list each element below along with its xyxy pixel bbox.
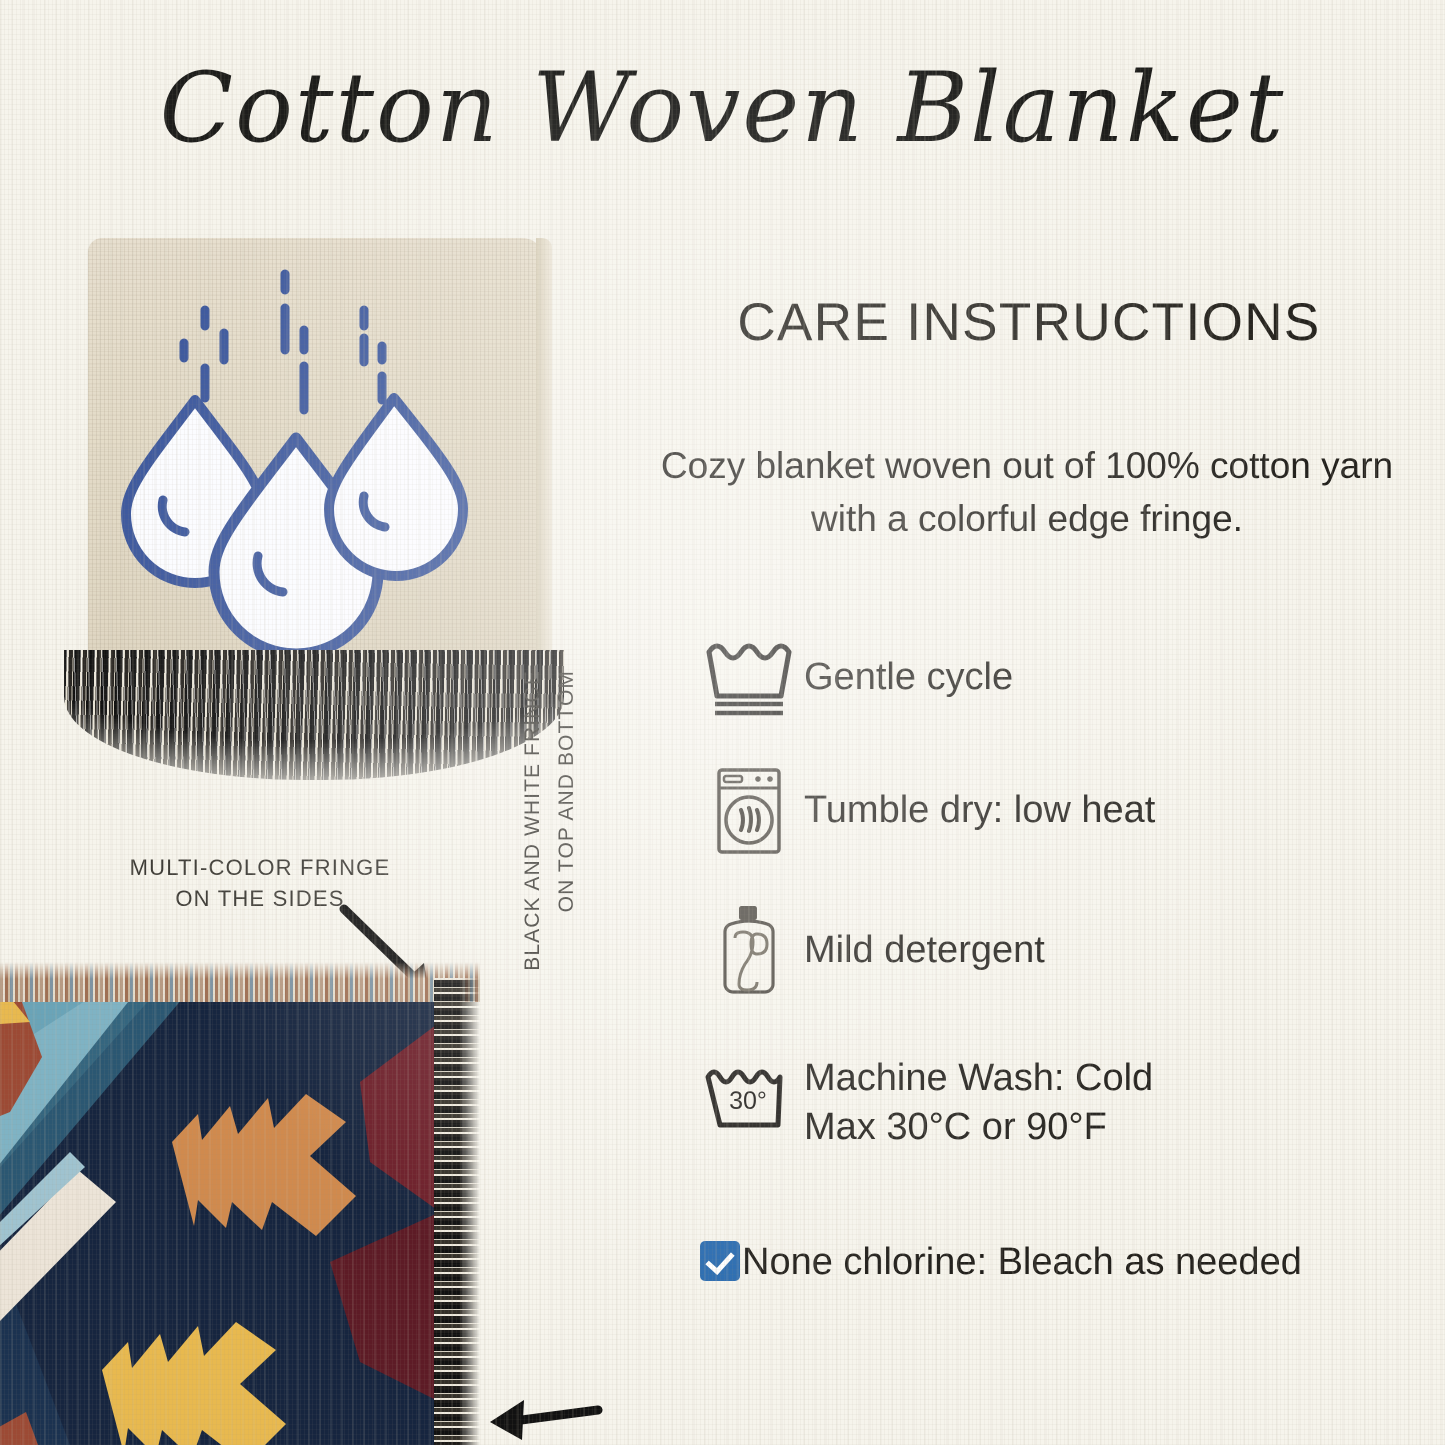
gentle-cycle-icon [694,634,804,720]
checkbox-checked-icon[interactable] [700,1241,740,1281]
care-item-mild-detergent: Mild detergent [694,900,1045,1000]
care-item-tumble-dry: Tumble dry: low heat [694,762,1155,858]
water-drop-right [329,398,463,576]
care-item-bleach: None chlorine: Bleach as needed [700,1238,1360,1287]
wash-temperature-icon: 30° [694,1061,804,1145]
care-instructions-infographic: Cotton Woven Blanket [0,0,1445,1445]
care-item-label: None chlorine: Bleach as needed [742,1241,1302,1283]
product-description: Cozy blanket woven out of 100% cotton ya… [628,440,1426,545]
care-item-label: Tumble dry: low heat [804,786,1155,835]
annotation-left-line1: MULTI-COLOR FRINGE [60,852,460,883]
care-instructions-heading: CARE INSTRUCTIONS [636,292,1422,353]
page-title: Cotton Woven Blanket [0,52,1445,164]
blanket-fringe-side-black-white [434,978,480,1445]
product-photo-bottom [0,962,520,1445]
care-item-label-wrapper: None chlorine: Bleach as needed [700,1238,1360,1287]
annotation-right-line1: BLACK AND WHITE FRINGE [516,670,550,1040]
care-item-label: Machine Wash: Cold Max 30°C or 90°F [804,1054,1153,1151]
care-item-label: Gentle cycle [804,653,1013,702]
annotation-black-white-fringe: BLACK AND WHITE FRINGE ON TOP AND BOTTOM [516,670,583,1040]
tumble-dry-icon [694,762,804,858]
water-drop-artwork [88,238,544,656]
annotation-right-line2: ON TOP AND BOTTOM [550,670,584,1040]
care-item-machine-wash: 30° Machine Wash: Cold Max 30°C or 90°F [694,1054,1153,1151]
detergent-bottle-icon [694,900,804,1000]
care-item-label: Mild detergent [804,926,1045,975]
wash-temp-value: 30° [729,1087,767,1115]
blanket-fringe-black-white [64,650,564,780]
care-item-gentle-cycle: Gentle cycle [694,634,1013,720]
product-photo-top [88,238,544,834]
care-item-label-line1: Machine Wash: Cold [804,1054,1153,1103]
blanket-fringe-multi-color [0,962,480,1002]
arrow-left-icon [468,1388,608,1445]
care-item-label-line2: Max 30°C or 90°F [804,1103,1153,1152]
